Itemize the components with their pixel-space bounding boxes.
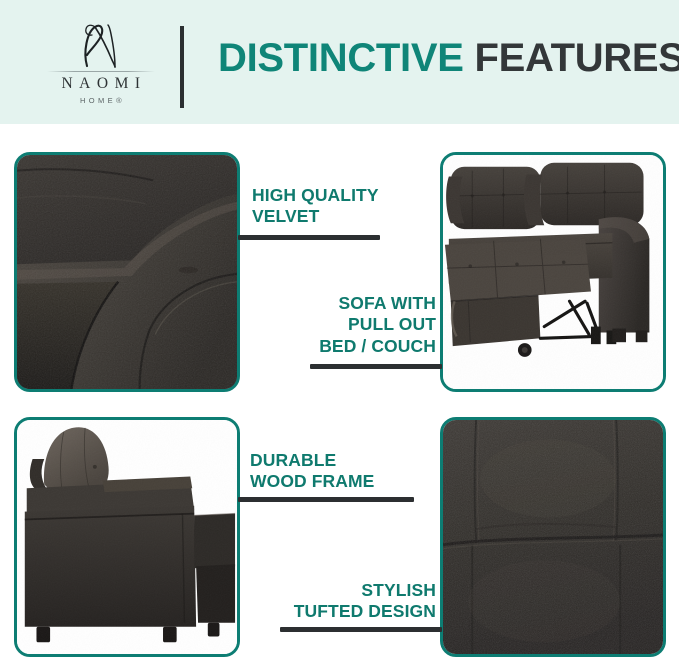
brand-logo: NAOMI HOME® [36, 22, 166, 108]
callout-label-durable-wood-frame: DURABLE WOOD FRAME [250, 450, 440, 493]
callout-rule-pull-out-bed [310, 364, 442, 369]
page-title: DISTINCTIVE FEATURES [218, 38, 679, 78]
callout-pull-out-bed: SOFA WITH PULL OUT BED / COUCH [250, 293, 436, 357]
pullout-sofa-illustration [443, 155, 663, 389]
page-title-main: FEATURES [474, 36, 679, 80]
brand-sub-wordmark: HOME® [77, 97, 125, 105]
feature-image-stylish-tufted-design [440, 417, 666, 657]
callout-stylish-tufted-design: STYLISH TUFTED DESIGN [250, 580, 436, 623]
callout-high-quality-velvet: HIGH QUALITY VELVET [252, 185, 442, 228]
page-title-accent: DISTINCTIVE [218, 36, 464, 80]
velvet-closeup-illustration [17, 155, 237, 389]
naomi-n-monogram-icon [71, 22, 131, 70]
callout-rule-stylish-tufted-design [280, 627, 442, 632]
callout-rule-durable-wood-frame [238, 497, 414, 502]
logo-divider-rule [47, 71, 155, 72]
callout-rule-high-quality-velvet [238, 235, 380, 240]
callout-label-high-quality-velvet: HIGH QUALITY VELVET [252, 185, 442, 228]
callout-label-stylish-tufted-design: STYLISH TUFTED DESIGN [250, 580, 436, 623]
feature-image-pull-out-bed [440, 152, 666, 392]
header-band: NAOMI HOME® DISTINCTIVE FEATURES [0, 0, 679, 124]
feature-image-high-quality-velvet [14, 152, 240, 392]
feature-image-durable-wood-frame [14, 417, 240, 657]
product-feature-infographic: NAOMI HOME® DISTINCTIVE FEATURES [0, 0, 679, 661]
tufted-cushion-illustration [443, 420, 663, 654]
sofa-side-profile-illustration [17, 420, 237, 654]
callout-label-pull-out-bed: SOFA WITH PULL OUT BED / COUCH [250, 293, 436, 357]
brand-wordmark: NAOMI [55, 76, 146, 92]
header-vertical-divider [180, 26, 184, 108]
callout-durable-wood-frame: DURABLE WOOD FRAME [250, 450, 440, 493]
